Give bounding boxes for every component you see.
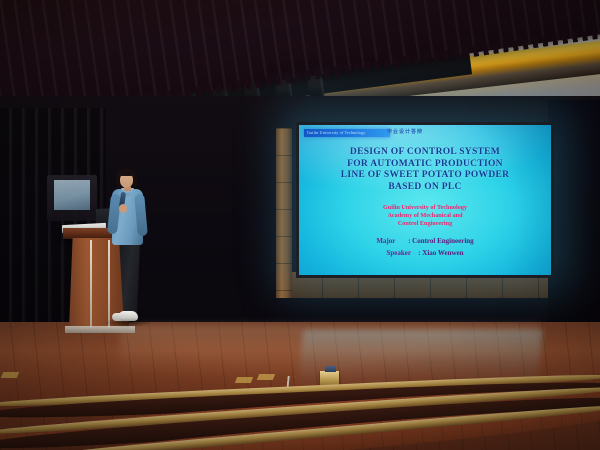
slide-title-line: FOR AUTOMATIC PRODUCTION: [299, 159, 551, 171]
slide-organization-line: Control Engineering: [299, 220, 551, 228]
slide-header-bar-text: Guilin University of Technology: [304, 129, 390, 137]
slide-title-line: DESIGN OF CONTROL SYSTEM: [299, 147, 551, 159]
projection-screen-frame: Guilin University of Technology 毕业设计答辩 D…: [296, 122, 554, 278]
floor-tape-mark: [235, 377, 253, 383]
right-dark-wall: [548, 100, 600, 360]
slide-field-separator: :: [418, 249, 420, 257]
speaker-hand: [119, 204, 127, 213]
slide-field-label: Major: [376, 235, 406, 247]
projection-screen[interactable]: Guilin University of Technology 毕业设计答辩 D…: [299, 125, 551, 275]
slide-organization-line: Academy of Mechanical and: [299, 212, 551, 220]
speaker-shoe: [119, 311, 138, 321]
slide-field-separator: :: [408, 237, 410, 245]
slide-organization-line: Guilin University of Technology: [299, 204, 551, 212]
slide-title-line: LINE OF SWEET POTATO POWDER: [299, 170, 551, 182]
slide-header-bar: Guilin University of Technology: [304, 129, 390, 137]
slide-field-major: Major : Control Engineering: [299, 235, 551, 247]
lectern-base: [65, 326, 135, 333]
lectern-stripe: [108, 240, 110, 328]
floor-tape-mark: [257, 374, 275, 380]
slide-title-line: BASED ON PLC: [299, 182, 551, 194]
floor-power-box-lid[interactable]: [325, 366, 336, 372]
slide-field-label: Speaker: [386, 247, 416, 259]
slide-field-value: Control Engineering: [412, 237, 474, 245]
auditorium-presentation-photo: Guilin University of Technology 毕业设计答辩 D…: [0, 0, 600, 450]
slide-field-value: Xiao Wenwen: [422, 249, 463, 257]
slide-header-right-text: 毕业设计答辩: [387, 128, 423, 135]
slide-organization: Guilin University of Technology Academy …: [299, 204, 551, 228]
slide-body: DESIGN OF CONTROL SYSTEM FOR AUTOMATIC P…: [299, 147, 551, 259]
speaker-hair-fringe: [118, 169, 135, 176]
lectern-stripe: [90, 240, 92, 328]
stage-monitor-screen: [54, 180, 90, 210]
wall-pilaster-left: [276, 128, 292, 298]
slide-field-speaker: Speaker : Xiao Wenwen: [299, 247, 551, 259]
slide-metadata: Major : Control Engineering Speaker : Xi…: [299, 235, 551, 259]
slide-title: DESIGN OF CONTROL SYSTEM FOR AUTOMATIC P…: [299, 147, 551, 193]
floor-tape-mark: [1, 372, 19, 378]
